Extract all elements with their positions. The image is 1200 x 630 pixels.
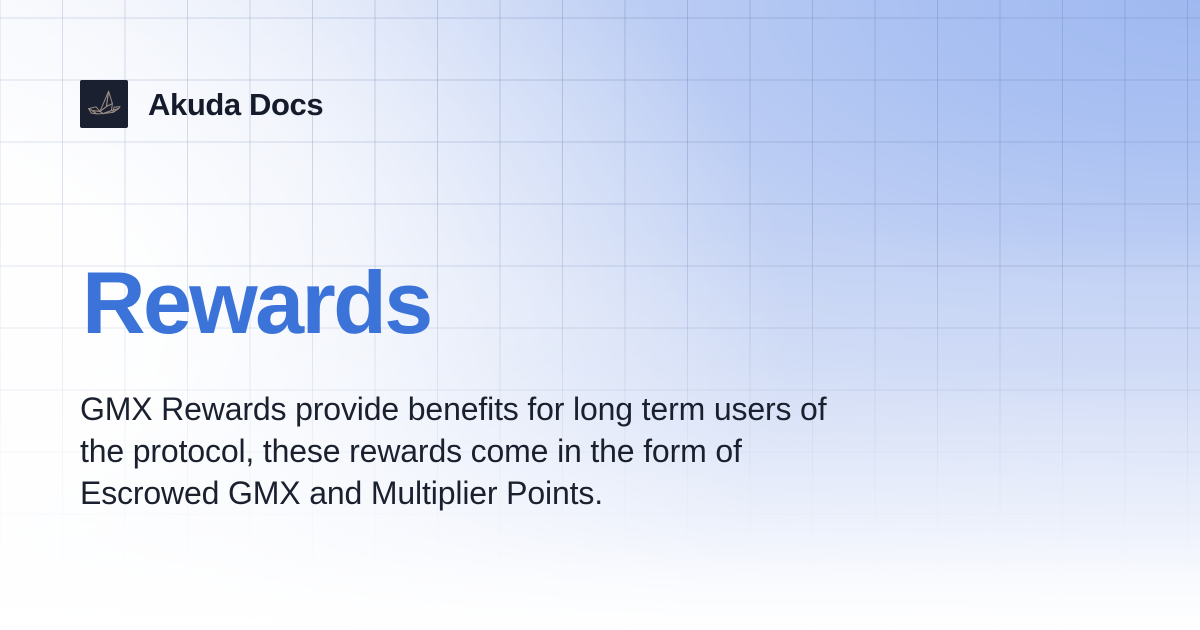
page-description: GMX Rewards provide benefits for long te… xyxy=(80,388,870,514)
origami-crane-icon xyxy=(80,80,128,128)
page-title: Rewards xyxy=(82,259,431,347)
banner-content: Akuda Docs Rewards GMX Rewards provide b… xyxy=(0,0,1200,630)
brand: Akuda Docs xyxy=(80,80,323,128)
og-banner: Akuda Docs Rewards GMX Rewards provide b… xyxy=(0,0,1200,630)
brand-name: Akuda Docs xyxy=(148,89,323,120)
